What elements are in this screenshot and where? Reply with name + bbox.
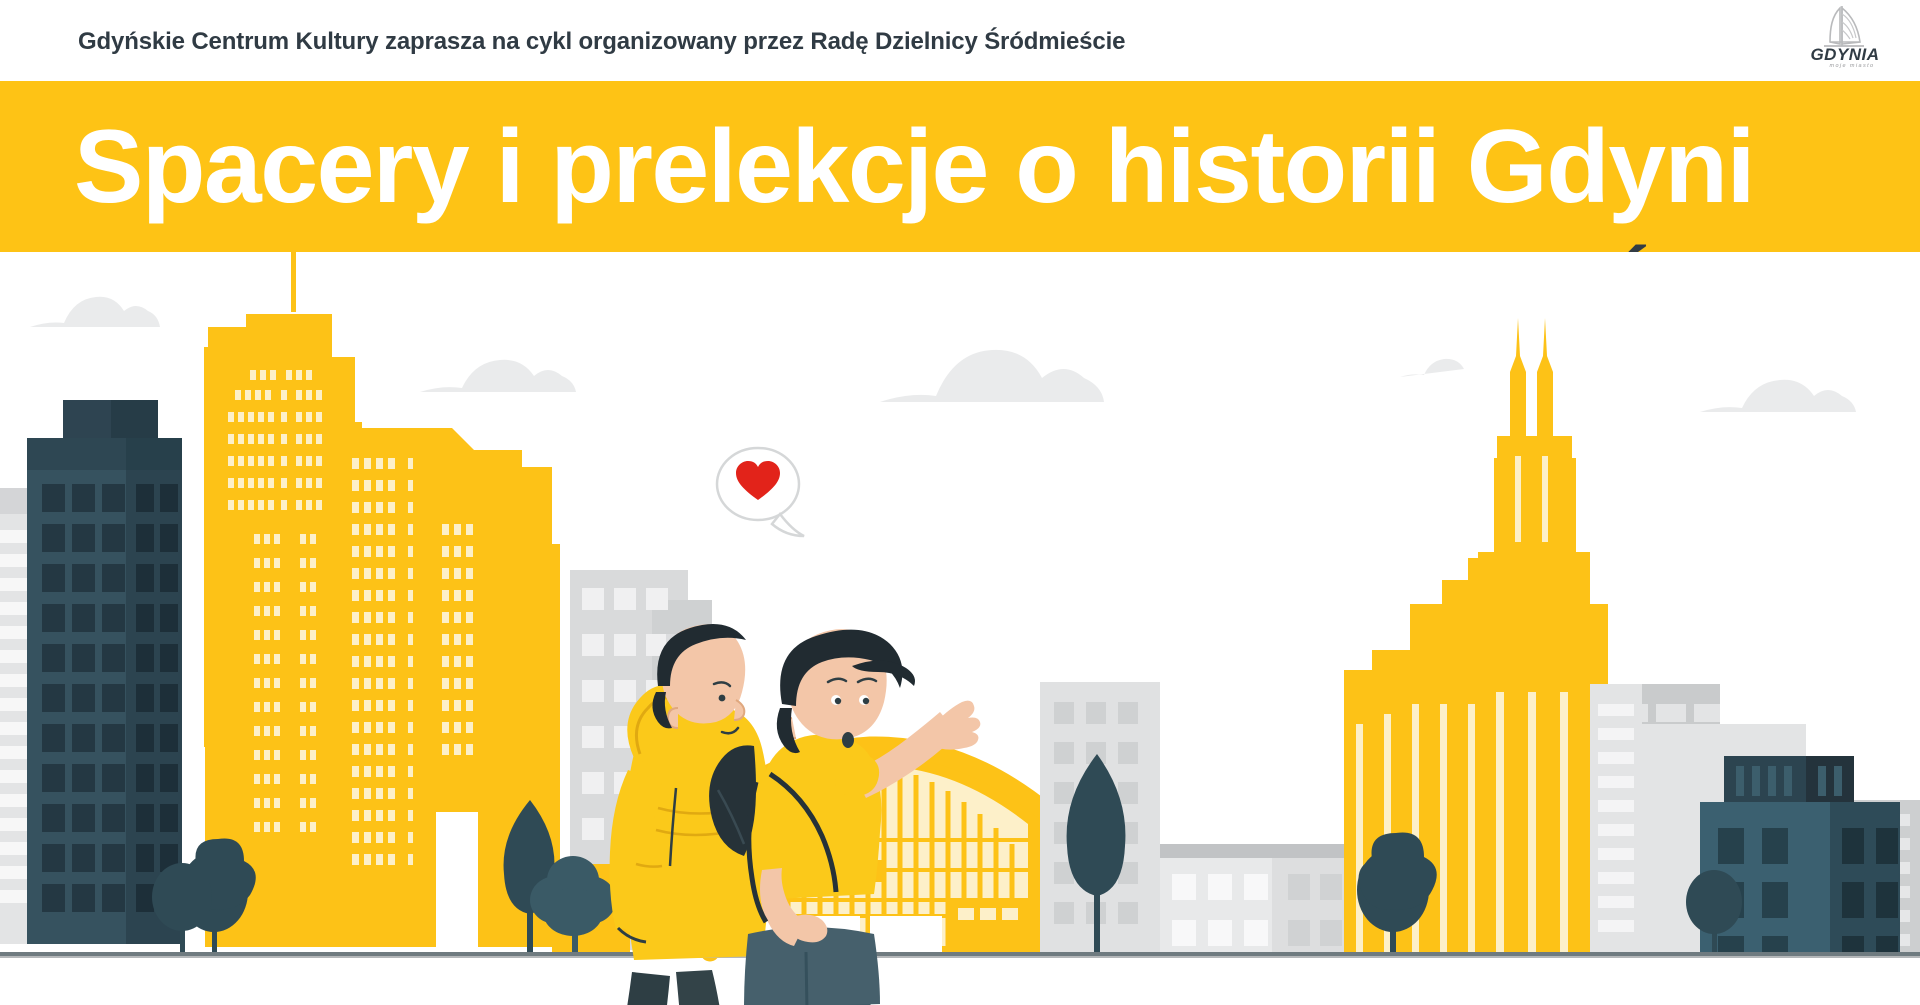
svg-text:moje miasto: moje miasto — [1829, 63, 1874, 68]
organiser-line: Gdyńskie Centrum Kultury zaprasza na cyk… — [78, 28, 1125, 56]
gdynia-wordmark: GDYNIA moje miasto — [1810, 45, 1879, 68]
gdynia-logo: GDYNIA moje miasto — [1790, 2, 1900, 68]
poster-root: Gdyńskie Centrum Kultury zaprasza na cyk… — [0, 0, 1920, 1005]
dark-tower-left — [27, 400, 182, 944]
top-strip: Gdyńskie Centrum Kultury zaprasza na cyk… — [0, 0, 1920, 81]
svg-text:GDYNIA: GDYNIA — [1810, 45, 1879, 64]
sailboat-icon — [1824, 6, 1864, 46]
banner: Spacery i prelekcje o historii Gdyni — [0, 81, 1920, 252]
banner-title: Spacery i prelekcje o historii Gdyni — [74, 115, 1754, 219]
city-skyline-illustration — [0, 252, 1920, 1005]
